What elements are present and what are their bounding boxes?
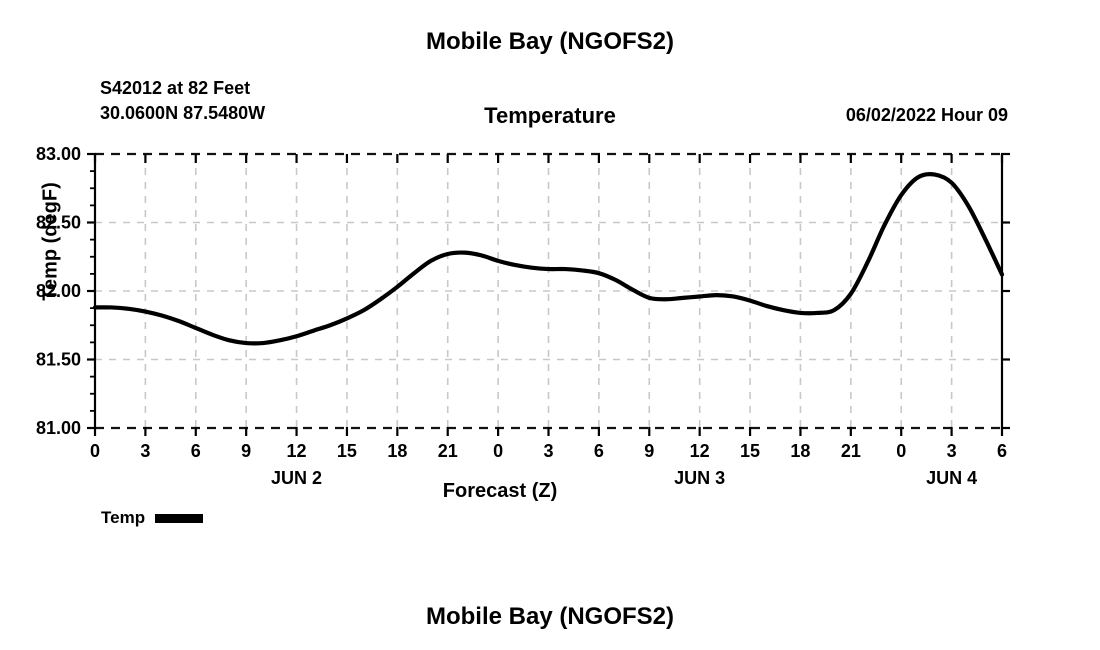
- page-title-bottom: Mobile Bay (NGOFS2): [0, 603, 1100, 631]
- x-axis-tick-label: 15: [740, 441, 760, 461]
- x-axis-tick-label: 3: [947, 441, 957, 461]
- x-axis-tick-label: 12: [690, 441, 710, 461]
- x-axis-tick-label: 6: [191, 441, 201, 461]
- x-axis-tick-label: 12: [287, 441, 307, 461]
- x-axis-tick-label: 3: [543, 441, 553, 461]
- x-axis-tick-label: 6: [594, 441, 604, 461]
- x-axis-tick-label: 21: [841, 441, 861, 461]
- chart-plot-area: 81.0081.5082.0082.5083.00036912151821036…: [0, 0, 1100, 650]
- x-axis-title: Forecast (Z): [300, 480, 700, 503]
- x-axis-tick-label: 18: [790, 441, 810, 461]
- temperature-line-chart: 81.0081.5082.0082.5083.00036912151821036…: [0, 0, 1100, 650]
- chart-legend: Temp: [101, 508, 203, 528]
- x-axis-tick-label: 6: [997, 441, 1007, 461]
- x-axis-tick-label: 9: [644, 441, 654, 461]
- x-axis-tick-label: 15: [337, 441, 357, 461]
- x-axis-tick-label: 0: [493, 441, 503, 461]
- x-axis-day-label: JUN 4: [926, 468, 977, 488]
- legend-swatch-temp: [155, 514, 203, 523]
- x-axis-tick-label: 0: [896, 441, 906, 461]
- x-axis-tick-label: 21: [438, 441, 458, 461]
- x-axis-tick-label: 18: [387, 441, 407, 461]
- x-axis-tick-label: 0: [90, 441, 100, 461]
- y-axis-tick-label: 81.00: [36, 418, 81, 438]
- y-axis-title: Temp (degF): [40, 142, 63, 342]
- y-axis-tick-label: 81.50: [36, 350, 81, 370]
- x-axis-tick-label: 3: [140, 441, 150, 461]
- legend-label-temp: Temp: [101, 508, 145, 528]
- x-axis-tick-label: 9: [241, 441, 251, 461]
